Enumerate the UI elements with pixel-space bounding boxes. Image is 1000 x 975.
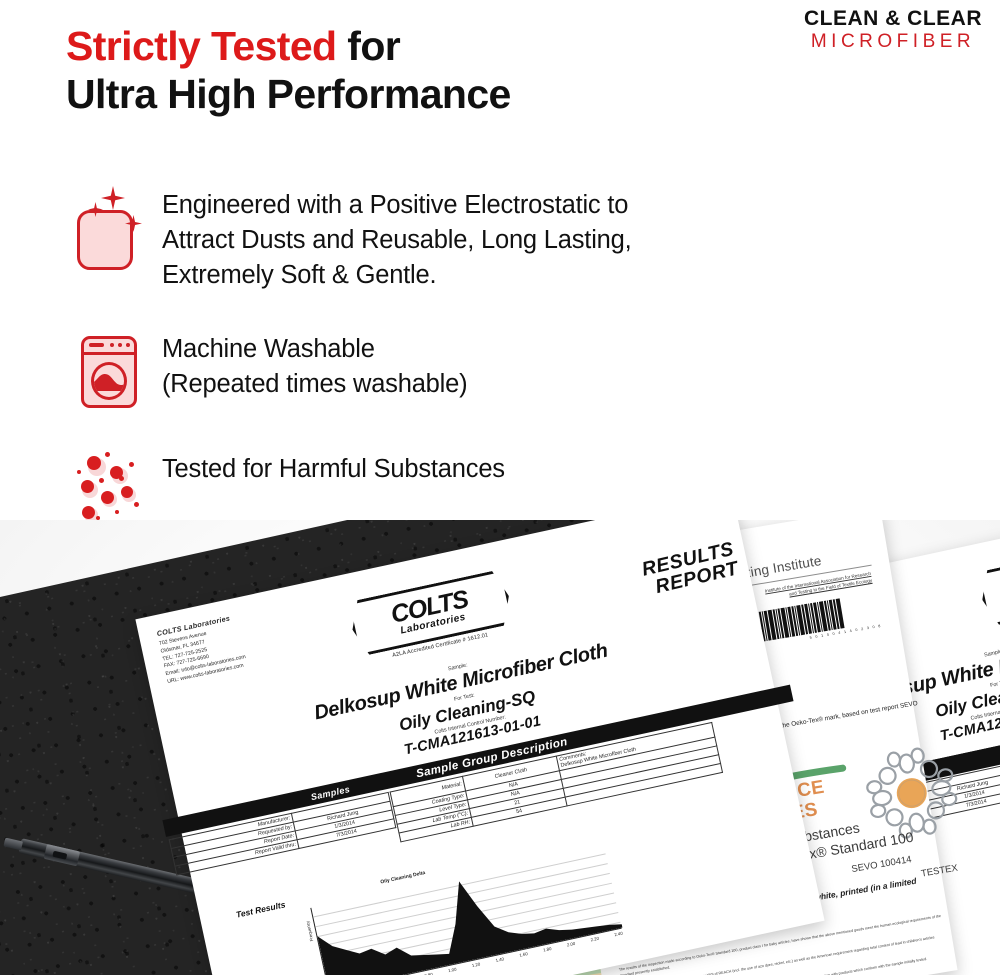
particle-dot xyxy=(119,476,124,481)
chart-title: Test Results xyxy=(235,899,286,919)
particle-dot xyxy=(115,510,119,514)
poster-canvas: CLEAN & CLEAR MICROFIBER Strictly Tested… xyxy=(0,0,1000,975)
cloth-sparkle-icon xyxy=(75,186,153,282)
washing-machine-dot-1 xyxy=(110,343,114,347)
test-results-chart: Test Results Oily Cleaning Delta Frequen… xyxy=(288,839,636,975)
washing-machine-slider xyxy=(89,343,104,347)
feature-item-harmful-substances: Tested for Harmful Substances xyxy=(66,450,505,524)
brand-name-line2: MICROFIBER xyxy=(804,31,982,53)
washing-machine-dot-2 xyxy=(118,343,122,347)
feature-icon-slot xyxy=(66,330,162,414)
feature-item-electrostatic: Engineered with a Positive Electrostatic… xyxy=(66,186,632,293)
particle-dot xyxy=(121,486,133,498)
feature-text: Machine Washable (Repeated times washabl… xyxy=(162,330,467,402)
chart-plot-area xyxy=(310,845,621,975)
documents-photo: COLTS Laboratories 702 Stevens Avenue Ol… xyxy=(0,520,1000,975)
sparkle-icon-large xyxy=(101,186,125,210)
page-title: Strictly Tested for Ultra High Performan… xyxy=(66,23,511,118)
registered-mark: ® xyxy=(503,574,510,582)
feature-icon-slot xyxy=(66,450,162,524)
brand-logo: CLEAN & CLEAR MICROFIBER xyxy=(804,8,982,53)
particle-dot xyxy=(87,456,101,470)
particles-icon xyxy=(76,450,152,524)
feature-item-washable: Machine Washable (Repeated times washabl… xyxy=(66,330,467,414)
headline-emphasis: Strictly Tested xyxy=(66,23,337,69)
feature-text: Tested for Harmful Substances xyxy=(162,450,505,487)
band-label-samples: Samples xyxy=(310,784,351,802)
sparkle-icon-medium xyxy=(125,215,142,232)
particle-dot xyxy=(101,491,114,504)
particle-dot xyxy=(105,452,110,457)
oeko-code: SEVO 100414 xyxy=(851,854,913,875)
feature-icon-slot xyxy=(66,186,162,282)
colts-logo: COLTS Laboratories ® A2LA Accredited Cer… xyxy=(976,538,1000,636)
particle-dot xyxy=(82,506,95,519)
sparkle-icon-small xyxy=(88,202,103,217)
particle-dot xyxy=(77,470,81,474)
chart-area-series xyxy=(311,843,622,975)
brand-name-line1: CLEAN & CLEAR xyxy=(804,8,982,30)
washing-machine-dot-3 xyxy=(126,343,130,347)
washing-machine-panel-line xyxy=(81,352,137,355)
particle-dot xyxy=(81,480,94,493)
headline-line-1: Strictly Tested for xyxy=(66,23,511,71)
particle-dot xyxy=(129,462,134,467)
headline-rest: for xyxy=(337,23,401,69)
washing-machine-icon xyxy=(78,330,150,414)
headline-line-2: Ultra High Performance xyxy=(66,71,511,119)
feature-text: Engineered with a Positive Electrostatic… xyxy=(162,186,632,293)
particle-dot xyxy=(99,478,104,483)
particle-dot xyxy=(134,502,139,507)
washing-machine-drum xyxy=(91,362,127,400)
